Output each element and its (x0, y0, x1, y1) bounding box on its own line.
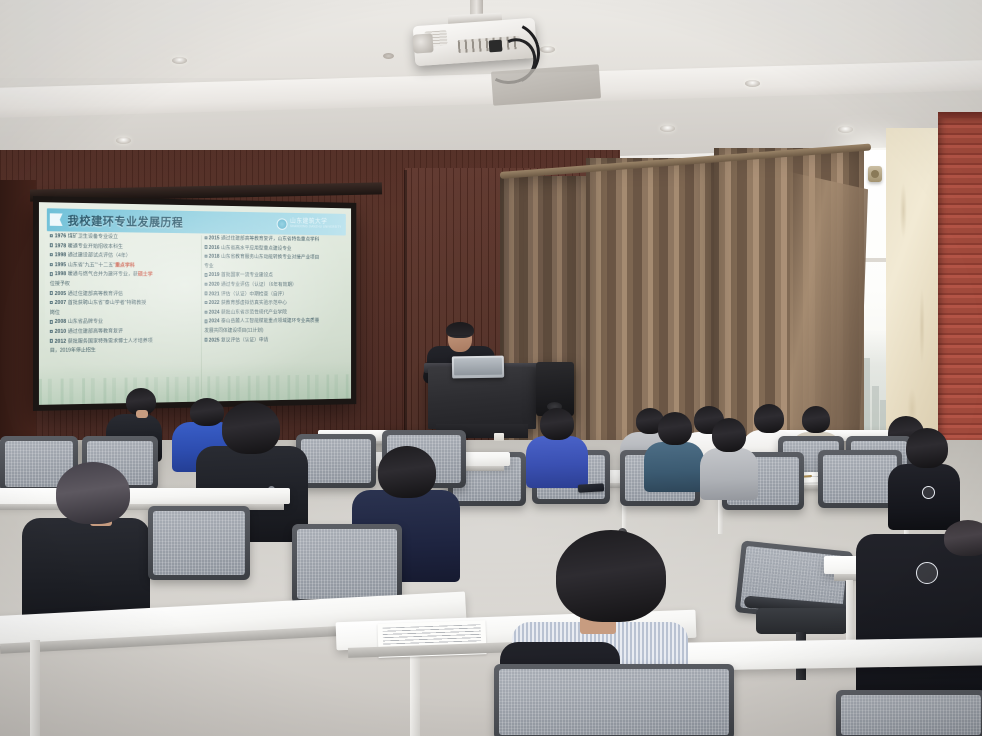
slide-header-bar: 我校建环专业发展历程 山东建筑大学 SHANDONG JIANZHU UNIVE… (47, 208, 346, 235)
chair-seat (756, 608, 848, 634)
slide-year: 2010 (55, 329, 67, 335)
slide-text: 山东省高水平应用型重点建设专业 (221, 245, 292, 252)
logo-text-block: 山东建筑大学 SHANDONG JIANZHU UNIVERSITY (290, 219, 341, 229)
checkbox-icon (50, 234, 53, 237)
slide-year: 2012 (55, 338, 67, 344)
slide-text: 获批服务国家特殊需求博士人才培养项 (68, 338, 153, 345)
slide-line: 2015通过住建部高等教育复评，山东省特色重点学科 (204, 235, 343, 243)
slide-column-right: 2015通过住建部高等教育复评，山东省特色重点学科 2016山东省高水平应用型重… (200, 235, 345, 396)
chair-mesh (153, 511, 245, 575)
checkbox-icon (204, 320, 207, 323)
chair-mesh (301, 439, 371, 483)
slide-line: 2016山东省高水平应用型重点建设专业 (204, 245, 343, 252)
slide-year: 2008 (55, 319, 67, 325)
chair-mesh (499, 669, 729, 735)
attendee-neck (136, 410, 148, 418)
checkbox-icon (204, 255, 207, 258)
attendee-hair (540, 408, 574, 440)
checkbox-icon (204, 338, 207, 341)
slide-text: 暖通与燃气合并为建环专业，获 (68, 272, 138, 278)
slide-line: 2018山东省教育服务山东动能转换专业对接产业项目 (204, 254, 343, 261)
chair-back (292, 524, 402, 604)
slide-body: 1976煤矿卫生设备专业设立 1978暖通专业开始招收本科生 1998通过建设部… (47, 233, 346, 400)
slide-year: 2007 (55, 300, 67, 306)
slide-text: 通过住建部高等教育评估 (68, 291, 123, 297)
slide-line: 2024泰山岳麓人工智能赋能重点领域建环专业高质量 (204, 318, 343, 324)
checkbox-icon (50, 301, 53, 304)
slide-year: 2016 (209, 245, 220, 251)
presentation-slide: 我校建环专业发展历程 山东建筑大学 SHANDONG JIANZHU UNIVE… (39, 202, 351, 405)
seal-icon (277, 218, 288, 230)
attendee-hair (222, 402, 280, 454)
slide-line: 1978暖通专业开始招收本科生 (50, 243, 198, 251)
checkbox-icon (50, 253, 53, 256)
slide-line: 2024获批山东省示范性现代产业学院 (204, 309, 343, 315)
checkbox-icon (204, 310, 207, 313)
downlight-icon (172, 57, 187, 64)
chair-back (296, 434, 376, 488)
checkbox-icon (50, 291, 53, 294)
slide-text: 煤矿卫生设备专业设立 (68, 233, 118, 240)
slide-text: 获批山东省示范性现代产业学院 (221, 309, 287, 315)
checkbox-icon (50, 244, 53, 247)
smoke-detector-icon (383, 53, 394, 59)
university-name-en: SHANDONG JIANZHU UNIVERSITY (290, 225, 341, 229)
attendee-hair (802, 406, 830, 433)
flag-icon (50, 213, 63, 226)
slide-highlight: 重点学科 (115, 262, 135, 268)
slide-line: 1995山东省“九五”“十二五”重点学科 (50, 262, 198, 269)
attendee-hair (906, 428, 948, 468)
slide-text: 通过专业评估（认证）（6年有效期） (221, 282, 297, 288)
slide-line: 2005通过住建部高等教育评估 (50, 291, 198, 297)
red-wood-slat-wall (938, 118, 982, 468)
chair-back (148, 506, 250, 580)
checkbox-icon (204, 246, 207, 249)
slide-text: 山东省教育服务山东动能转换专业对接产业项目 (221, 254, 319, 261)
slide-year: 2021 (209, 291, 220, 297)
downlight-icon (540, 46, 555, 53)
slide-line: 2012获批服务国家特殊需求博士人才培养项 (50, 337, 198, 344)
desk-leg (30, 640, 40, 736)
slide-year: 2018 (209, 254, 220, 260)
slide-year: 1998 (55, 272, 67, 278)
slide-text: 通过住建部高等教育复评，山东省特色重点学科 (221, 236, 319, 243)
checkbox-icon (204, 283, 207, 286)
checkbox-icon (204, 301, 207, 304)
slide-text: 首批国家一流专业建设点 (221, 273, 273, 279)
attendee-hair (556, 530, 666, 622)
slide-line: 2010通过住建部高等教育复评 (50, 328, 198, 335)
slide-year: 2020 (209, 282, 220, 288)
slide-text: 山东省品牌专业 (68, 319, 103, 325)
slide-column-left: 1976煤矿卫生设备专业设立 1978暖通专业开始招收本科生 1998通过建设部… (47, 233, 201, 400)
chair-back (836, 690, 982, 736)
chair-mesh (297, 529, 397, 599)
presenter-laptop (452, 356, 504, 379)
slide-text: 首批获聘山东省“泰山学者”特聘教授 (68, 300, 147, 306)
laptop-screen (454, 358, 502, 376)
checkbox-icon (50, 339, 53, 342)
slide-continuation: 位授予权 (50, 281, 198, 287)
slide-title: 我校建环专业发展历程 (68, 212, 184, 230)
left-wood-wall (0, 180, 36, 460)
checkbox-icon (50, 330, 53, 333)
slide-line: 1998通过建设部试点评估（4年） (50, 252, 198, 259)
downlight-icon (838, 126, 853, 133)
checkbox-icon (50, 263, 53, 266)
slide-text: 评估（认证）中期检查（自评） (221, 291, 287, 297)
slide-year: 2024 (209, 319, 220, 325)
slide-text: 山东省“九五”“十二五” (68, 262, 115, 268)
slide-year: 1978 (55, 243, 67, 249)
slide-year: 1998 (55, 252, 67, 258)
curtain-tieback-hook (868, 166, 882, 182)
attendee-body (644, 442, 704, 492)
slide-text: 获教育部虚拟仿真实验示范中心 (221, 300, 287, 306)
projection-screen: 我校建环专业发展历程 山东建筑大学 SHANDONG JIANZHU UNIVE… (33, 196, 356, 411)
slide-line: 2022获教育部虚拟仿真实验示范中心 (204, 300, 343, 306)
attendee-body (526, 436, 588, 488)
jacket-badge-icon (916, 562, 938, 584)
slide-line: 1976煤矿卫生设备专业设立 (50, 233, 198, 241)
attendee-hair (56, 462, 130, 524)
slide-highlight: 硕士学 (138, 272, 153, 278)
slide-year: 1995 (55, 262, 67, 268)
downlight-icon (116, 137, 131, 144)
attendee-body (700, 448, 758, 500)
downlight-icon (660, 125, 675, 132)
slide-line: 2008山东省品牌专业 (50, 319, 198, 325)
chair-back (494, 664, 734, 736)
checkbox-icon (50, 272, 53, 275)
mobile-phone (578, 483, 604, 492)
slide-line: 2025复议评估（认证）申请 (204, 336, 343, 343)
desk-row4-left (0, 488, 290, 504)
slide-line: 2019首批国家一流专业建设点 (204, 272, 343, 279)
attendee-hair (754, 404, 784, 433)
chair-mesh (841, 695, 981, 735)
university-logo: 山东建筑大学 SHANDONG JIANZHU UNIVERSITY (277, 218, 342, 230)
slide-line: 2020通过专业评估（认证）（6年有效期） (204, 282, 343, 288)
screen-surface: 我校建环专业发展历程 山东建筑大学 SHANDONG JIANZHU UNIVE… (39, 202, 351, 405)
attendee-hair (190, 398, 224, 426)
slide-year: 2015 (209, 235, 220, 241)
attendee-hair (712, 418, 746, 452)
downlight-icon (745, 80, 760, 87)
slide-text: 通过建设部试点评估（4年） (68, 253, 131, 260)
slide-continuation: 专业 (204, 263, 343, 270)
slide-year: 2022 (209, 300, 220, 306)
checkbox-icon (204, 273, 207, 276)
slide-year: 2025 (209, 337, 220, 343)
lecture-hall-photo: 我校建环专业发展历程 山东建筑大学 SHANDONG JIANZHU UNIVE… (0, 0, 982, 736)
slide-year: 2019 (209, 272, 220, 278)
slide-text: 复议评估（认证）申请 (221, 337, 268, 343)
slide-line: 2007首批获聘山东省“泰山学者”特聘教授 (50, 300, 198, 306)
attendee-hair (944, 520, 982, 556)
slide-continuation: 岗位 (50, 310, 198, 316)
slide-line: 2021评估（认证）中期检查（自评） (204, 291, 343, 297)
checkbox-icon (50, 320, 53, 323)
projector-lens-icon (412, 33, 433, 53)
slide-continuation: 发展共同体建设项目(11计划) (204, 327, 343, 333)
attendee-hair (378, 446, 436, 498)
slide-text: 暖通专业开始招收本科生 (68, 243, 123, 250)
chair-mesh (823, 455, 897, 503)
slide-text: 通过住建部高等教育复评 (68, 328, 123, 334)
jacket-badge-icon (922, 486, 935, 499)
marble-veining (886, 128, 944, 458)
wall-corner-seam (404, 170, 407, 470)
slide-continuation: 目，2019年停止招生 (50, 347, 198, 354)
attendee-hair (658, 412, 692, 445)
slide-year: 2005 (55, 291, 67, 297)
checkbox-icon (204, 292, 207, 295)
checkbox-icon (204, 236, 207, 239)
slide-text: 泰山岳麓人工智能赋能重点领域建环专业高质量 (221, 318, 319, 324)
slide-year: 1976 (55, 233, 67, 239)
glasses-icon (450, 335, 470, 340)
slide-line: 1998暖通与燃气合并为建环专业，获硕士学 (50, 271, 198, 278)
slide-year: 2024 (209, 310, 220, 316)
power-outlet (494, 433, 504, 441)
